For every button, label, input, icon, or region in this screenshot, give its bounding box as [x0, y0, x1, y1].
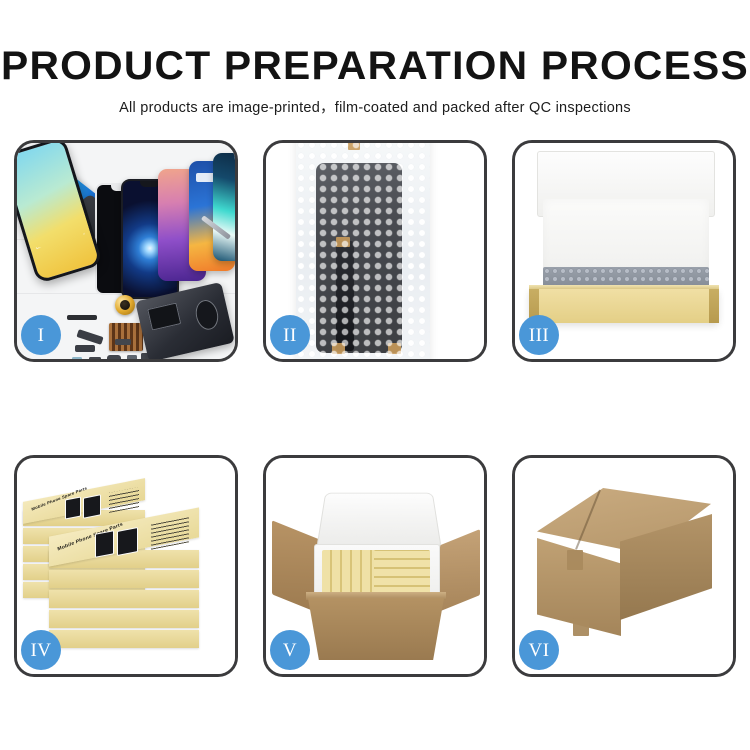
tape-icon	[336, 237, 350, 247]
small-part-icon	[107, 355, 121, 359]
step-badge-4: IV	[21, 630, 61, 670]
carton-front-icon	[308, 598, 444, 660]
tape-icon	[348, 143, 360, 150]
step-badge-1: I	[21, 315, 61, 355]
process-steps-grid: I II	[14, 140, 736, 677]
speaker-part-icon	[67, 315, 97, 320]
step-card-4: Mobile Phone Spare Parts Mobile Phone Sp…	[14, 455, 238, 677]
kraft-box-icon	[49, 610, 199, 628]
page-subtitle: All products are image-printed，film-coat…	[0, 86, 750, 116]
flex-cable-icon	[76, 329, 103, 345]
box-print-screen-icon	[65, 496, 81, 519]
flex-cable-icon	[336, 241, 354, 351]
step-card-2: II	[263, 140, 487, 362]
page-title: PRODUCT PREPARATION PROCESS	[0, 0, 750, 86]
step-badge-6: VI	[519, 630, 559, 670]
foam-cooler-lid-icon	[316, 493, 442, 550]
kraft-boxes-inside-icon	[374, 550, 430, 594]
kraft-box-icon	[49, 630, 199, 648]
step-badge-2: II	[270, 315, 310, 355]
product-preparation-infographic: PRODUCT PREPARATION PROCESS All products…	[0, 0, 750, 750]
step-card-6: VI	[512, 455, 736, 677]
kraft-box-icon	[49, 590, 199, 608]
bubble-wrap-icon	[296, 143, 430, 359]
box-print-screen-icon	[83, 494, 101, 518]
tape-icon	[332, 343, 345, 354]
step-badge-3: III	[519, 315, 559, 355]
box-print-screen-icon	[95, 530, 114, 558]
tape-icon	[567, 550, 583, 570]
small-part-icon	[72, 357, 82, 359]
tape-icon	[388, 343, 401, 354]
screen-assembly-icon	[316, 163, 402, 353]
camera-ring-icon	[115, 295, 135, 315]
teal-phone-icon	[213, 153, 235, 261]
step-card-3: III	[512, 140, 736, 362]
chip-array-icon	[109, 323, 143, 351]
step-badge-5: V	[270, 630, 310, 670]
small-part-icon	[115, 339, 131, 345]
step-card-5: V	[263, 455, 487, 677]
step-card-1: I	[14, 140, 238, 362]
flex-cable-icon	[75, 345, 95, 352]
foam-sheet-icon	[543, 199, 709, 271]
tape-icon	[573, 618, 589, 636]
kraft-box-icon	[49, 570, 199, 588]
kraft-box-front-icon	[529, 289, 719, 323]
small-part-icon	[89, 357, 101, 359]
header: PRODUCT PREPARATION PROCESS All products…	[0, 0, 750, 116]
small-part-icon	[127, 355, 137, 359]
box-print-screen-icon	[117, 527, 138, 556]
